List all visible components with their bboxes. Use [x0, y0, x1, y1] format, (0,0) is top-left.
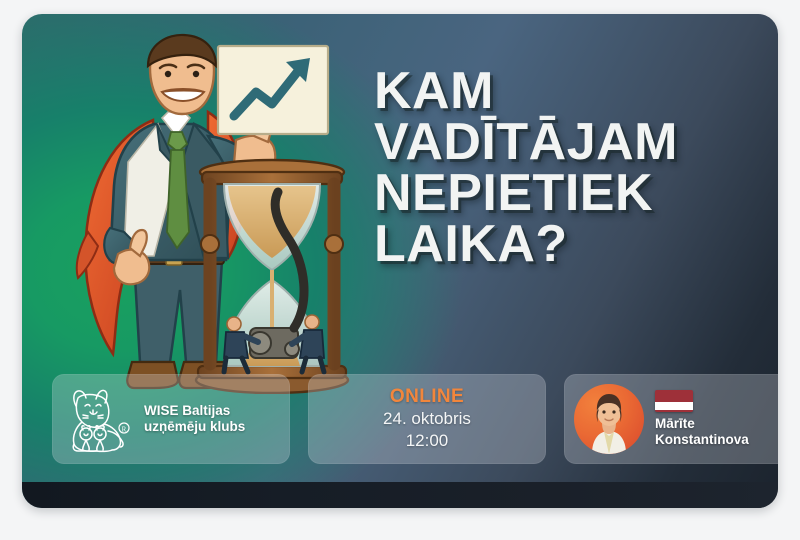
- speaker-name-line-1: Mārīte: [655, 416, 749, 432]
- speaker-card-inner: Mārīte Konstantinova: [564, 374, 778, 464]
- growth-chart-sign: [218, 46, 328, 134]
- club-name-line-1: WISE Baltijas: [144, 403, 245, 419]
- flag-white-band: [655, 402, 693, 409]
- club-name: WISE Baltijas uzņēmēju klubs: [144, 403, 245, 436]
- poster-bottom-edge: [22, 482, 778, 508]
- headline-line-2: VADĪTĀJAM: [374, 117, 778, 168]
- event-details-card: ONLINE 24. oktobris 12:00: [308, 374, 546, 464]
- latvia-flag-icon: [655, 390, 693, 412]
- info-cards-row: R WISE Baltijas uzņēmēju klubs ONLINE 24…: [44, 374, 756, 464]
- speaker-avatar: [574, 384, 644, 454]
- tiger-with-cubs-logo-icon: R: [62, 384, 136, 454]
- speaker-card: Mārīte Konstantinova: [564, 374, 778, 464]
- headline-line-3: NEPIETIEK: [374, 168, 778, 219]
- event-date-label: 24. oktobris: [383, 409, 471, 430]
- speaker-name: Mārīte Konstantinova: [655, 416, 749, 448]
- event-card-inner: ONLINE 24. oktobris 12:00: [308, 374, 546, 464]
- poster-root: KAM VADĪTĀJAM NEPIETIEK LAIKA?: [0, 0, 800, 540]
- event-time-label: 12:00: [406, 431, 449, 452]
- headline-line-4: LAIKA?: [374, 219, 778, 270]
- speaker-name-line-2: Konstantinova: [655, 432, 749, 448]
- club-card-inner: R WISE Baltijas uzņēmēju klubs: [52, 374, 290, 464]
- svg-text:R: R: [122, 426, 127, 434]
- hero-illustration: [58, 32, 368, 394]
- head-shape: [148, 35, 216, 114]
- headline-line-1: KAM: [374, 66, 778, 117]
- event-mode-label: ONLINE: [390, 386, 464, 408]
- club-name-line-2: uzņēmēju klubs: [144, 419, 245, 435]
- poster-headline: KAM VADĪTĀJAM NEPIETIEK LAIKA?: [374, 66, 778, 270]
- club-card: R WISE Baltijas uzņēmēju klubs: [52, 374, 290, 464]
- speaker-meta: Mārīte Konstantinova: [655, 390, 749, 448]
- poster-card: KAM VADĪTĀJAM NEPIETIEK LAIKA?: [22, 14, 778, 508]
